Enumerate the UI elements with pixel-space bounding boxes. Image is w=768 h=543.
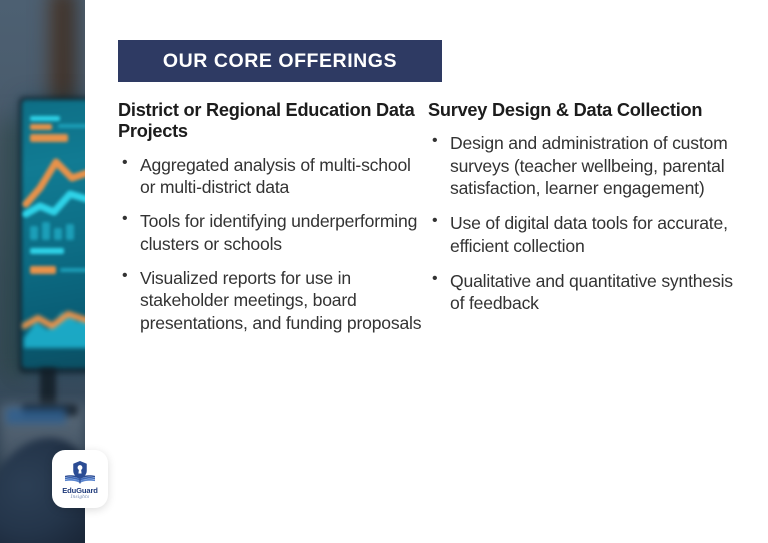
bullet-list: Design and administration of custom surv… [428,132,733,314]
section-title-banner: OUR CORE OFFERINGS [118,40,442,82]
screen-area-chart [22,292,85,348]
list-item: Visualized reports for use in stakeholde… [118,267,423,334]
list-item: Use of digital data tools for accurate, … [428,212,733,257]
list-item: Aggregated analysis of multi-school or m… [118,154,423,199]
column-district-data-projects: District or Regional Education Data Proj… [118,100,423,334]
eduguard-logo: EduGuard Insights [52,450,108,508]
screen-cyan-bar-4 [60,268,85,272]
screen-mini-bar-1 [30,226,38,240]
screen-mini-bar-2 [42,222,50,240]
screen-orange-bar [30,124,52,130]
screen-mini-bar-4 [66,224,74,240]
shield-book-icon [62,460,98,486]
screen-line-chart [22,148,85,218]
screen-cyan-bar-2 [58,124,85,128]
screen-cyan-bar [30,116,60,121]
logo-tagline: Insights [71,496,90,500]
column-survey-design: Survey Design & Data Collection Design a… [423,100,733,334]
logo-wordmark: EduGuard [62,487,98,495]
screen-orange-bar-2 [30,134,68,142]
list-item: Tools for identifying underperforming cl… [118,210,423,255]
screen-orange-bar-3 [30,266,56,274]
screen-mini-bar-3 [54,228,62,240]
column-heading: District or Regional Education Data Proj… [118,100,423,143]
screen-cyan-bar-3 [30,248,64,254]
slide-canvas: EduGuard Insights OUR CORE OFFERINGS Dis… [0,0,768,543]
page-title: OUR CORE OFFERINGS [163,50,397,73]
list-item: Qualitative and quantitative synthesis o… [428,270,733,315]
bullet-list: Aggregated analysis of multi-school or m… [118,154,423,334]
desk-blue-mat [6,408,66,424]
column-heading: Survey Design & Data Collection [428,100,733,121]
list-item: Design and administration of custom surv… [428,132,733,199]
offerings-columns: District or Regional Education Data Proj… [118,100,738,334]
